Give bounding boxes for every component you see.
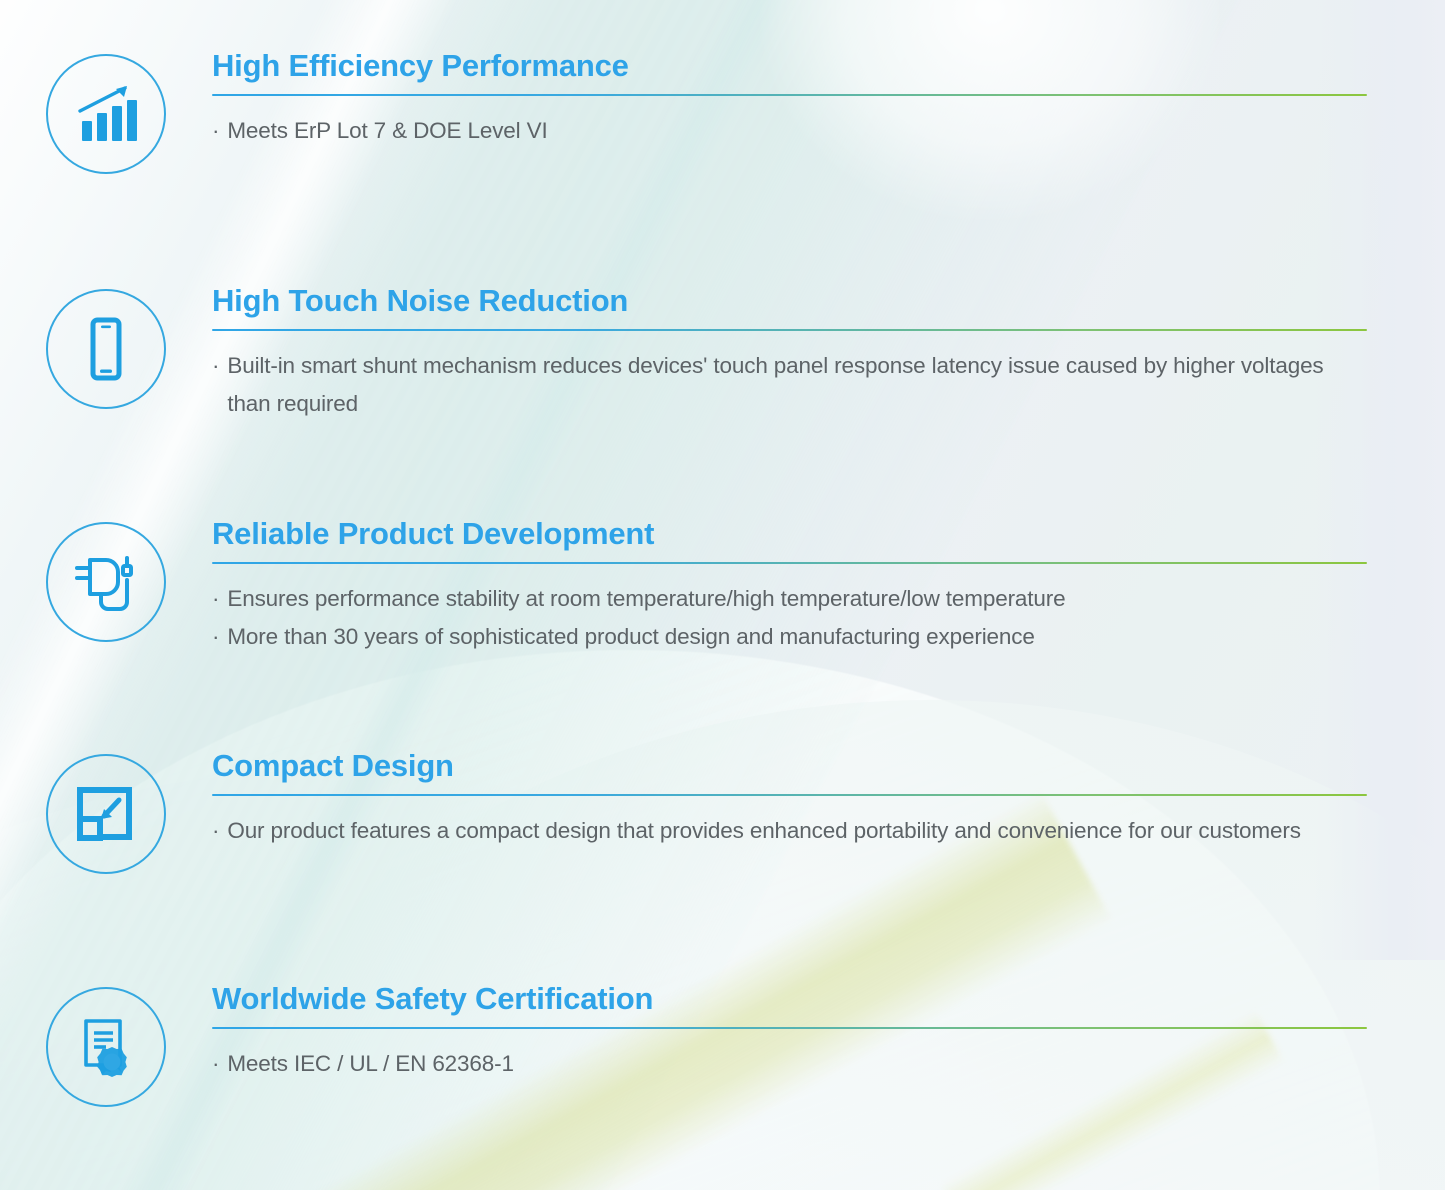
background-sweep-curve-1	[0, 650, 1380, 1190]
feature-body: High Efficiency Performance · Meets ErP …	[212, 50, 1445, 150]
feature-bullets: · Meets IEC / UL / EN 62368-1	[212, 1045, 1367, 1084]
feature-body: Worldwide Safety Certification · Meets I…	[212, 983, 1445, 1083]
bullet-dot: ·	[212, 1045, 219, 1084]
feature-item-compact-design: Compact Design · Our product features a …	[0, 750, 1445, 874]
feature-title: High Touch Noise Reduction	[212, 285, 1367, 318]
compact-resize-icon	[46, 754, 166, 874]
feature-bullets: · Meets ErP Lot 7 & DOE Level VI	[212, 112, 1367, 151]
feature-body: Reliable Product Development · Ensures p…	[212, 518, 1445, 657]
bullet-dot: ·	[212, 580, 219, 619]
power-adapter-icon	[46, 522, 166, 642]
feature-bullet: · Built-in smart shunt mechanism reduces…	[212, 347, 1367, 424]
feature-icon-wrap	[0, 285, 212, 409]
feature-title: Reliable Product Development	[212, 518, 1367, 551]
bullet-text: Ensures performance stability at room te…	[227, 580, 1367, 619]
feature-body: Compact Design · Our product features a …	[212, 750, 1445, 850]
feature-bullets: · Ensures performance stability at room …	[212, 580, 1367, 657]
certificate-seal-icon	[46, 987, 166, 1107]
feature-icon-wrap	[0, 50, 212, 174]
feature-title: High Efficiency Performance	[212, 50, 1367, 83]
bullet-dot: ·	[212, 812, 219, 851]
bullet-dot: ·	[212, 112, 219, 151]
feature-bullets: · Built-in smart shunt mechanism reduces…	[212, 347, 1367, 424]
feature-item-worldwide-safety-certification: Worldwide Safety Certification · Meets I…	[0, 983, 1445, 1107]
bullet-text: More than 30 years of sophisticated prod…	[227, 618, 1367, 657]
feature-divider	[212, 794, 1367, 796]
bullet-text: Meets ErP Lot 7 & DOE Level VI	[227, 112, 1367, 151]
bullet-text: Our product features a compact design th…	[227, 812, 1367, 851]
feature-bullet: · Our product features a compact design …	[212, 812, 1367, 851]
feature-item-reliable-product-development: Reliable Product Development · Ensures p…	[0, 518, 1445, 657]
feature-bullet: · Ensures performance stability at room …	[212, 580, 1367, 619]
feature-divider	[212, 1027, 1367, 1029]
feature-title: Worldwide Safety Certification	[212, 983, 1367, 1016]
feature-highlights-page: High Efficiency Performance · Meets ErP …	[0, 0, 1445, 1190]
feature-icon-wrap	[0, 983, 212, 1107]
smartphone-icon	[46, 289, 166, 409]
feature-body: High Touch Noise Reduction · Built-in sm…	[212, 285, 1445, 424]
feature-item-high-efficiency-performance: High Efficiency Performance · Meets ErP …	[0, 50, 1445, 174]
feature-icon-wrap	[0, 750, 212, 874]
bar-chart-growth-icon	[46, 54, 166, 174]
feature-bullets: · Our product features a compact design …	[212, 812, 1367, 851]
feature-divider	[212, 329, 1367, 331]
feature-bullet: · More than 30 years of sophisticated pr…	[212, 618, 1367, 657]
bullet-text: Built-in smart shunt mechanism reduces d…	[227, 347, 1367, 424]
feature-bullet: · Meets IEC / UL / EN 62368-1	[212, 1045, 1367, 1084]
feature-title: Compact Design	[212, 750, 1367, 783]
feature-divider	[212, 562, 1367, 564]
feature-icon-wrap	[0, 518, 212, 642]
bullet-dot: ·	[212, 618, 219, 657]
bullet-dot: ·	[212, 347, 219, 424]
feature-bullet: · Meets ErP Lot 7 & DOE Level VI	[212, 112, 1367, 151]
feature-divider	[212, 94, 1367, 96]
feature-item-high-touch-noise-reduction: High Touch Noise Reduction · Built-in sm…	[0, 285, 1445, 424]
bullet-text: Meets IEC / UL / EN 62368-1	[227, 1045, 1367, 1084]
